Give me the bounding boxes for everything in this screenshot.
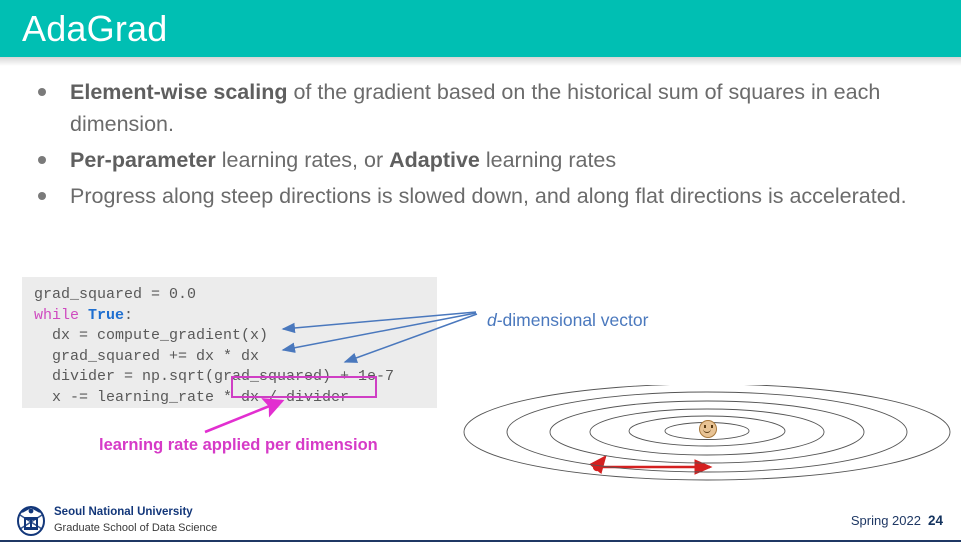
university-name: Seoul National University bbox=[54, 505, 217, 519]
footer-meta: Spring 202224 bbox=[851, 513, 943, 528]
bullet-dot-icon bbox=[38, 88, 46, 96]
bullet-list: Element-wise scaling of the gradient bas… bbox=[26, 76, 926, 216]
department-name: Graduate School of Data Science bbox=[54, 521, 217, 535]
list-item: Element-wise scaling of the gradient bas… bbox=[26, 76, 926, 140]
list-item: Progress along steep directions is slowe… bbox=[26, 180, 926, 212]
title-bar-shadow bbox=[0, 57, 961, 66]
footer-institution: Seoul National University Graduate Schoo… bbox=[54, 505, 217, 535]
smiley-face-icon bbox=[699, 420, 717, 438]
bullet-1-strong: Element-wise scaling bbox=[70, 80, 287, 104]
learning-rate-caption: learning rate applied per dimension bbox=[99, 436, 378, 455]
code-line-6-prefix: x -= learning_rate bbox=[34, 389, 223, 406]
d-vector-rest: -dimensional vector bbox=[497, 310, 649, 330]
term-label: Spring 2022 bbox=[851, 513, 921, 528]
code-line-1: grad_squared = 0.0 bbox=[34, 286, 196, 303]
page-title: AdaGrad bbox=[22, 8, 168, 50]
page-number: 24 bbox=[928, 513, 943, 528]
list-item: Per-parameter learning rates, or Adaptiv… bbox=[26, 144, 926, 176]
highlight-box bbox=[231, 376, 377, 398]
bullet-dot-icon bbox=[38, 192, 46, 200]
code-keyword-while: while bbox=[34, 307, 79, 324]
d-italic: d bbox=[487, 310, 497, 330]
code-line-3: dx = compute_gradient(x) bbox=[34, 327, 268, 344]
bullet-3-text: Progress along steep directions is slowe… bbox=[70, 184, 907, 208]
code-colon: : bbox=[124, 307, 133, 324]
bullet-2-strong: Per-parameter bbox=[70, 148, 216, 172]
bullet-2-strong-2: Adaptive bbox=[389, 148, 480, 172]
bullet-2-text: learning rates, or bbox=[216, 148, 389, 172]
smiley-mouth bbox=[703, 428, 711, 433]
d-dimensional-vector-label: d-dimensional vector bbox=[487, 310, 648, 331]
bullet-dot-icon bbox=[38, 156, 46, 164]
code-line-4: grad_squared += dx * dx bbox=[34, 348, 259, 365]
bullet-2-text-2: learning rates bbox=[480, 148, 616, 172]
code-keyword-true: True bbox=[88, 307, 124, 324]
snu-logo-icon bbox=[14, 503, 48, 537]
